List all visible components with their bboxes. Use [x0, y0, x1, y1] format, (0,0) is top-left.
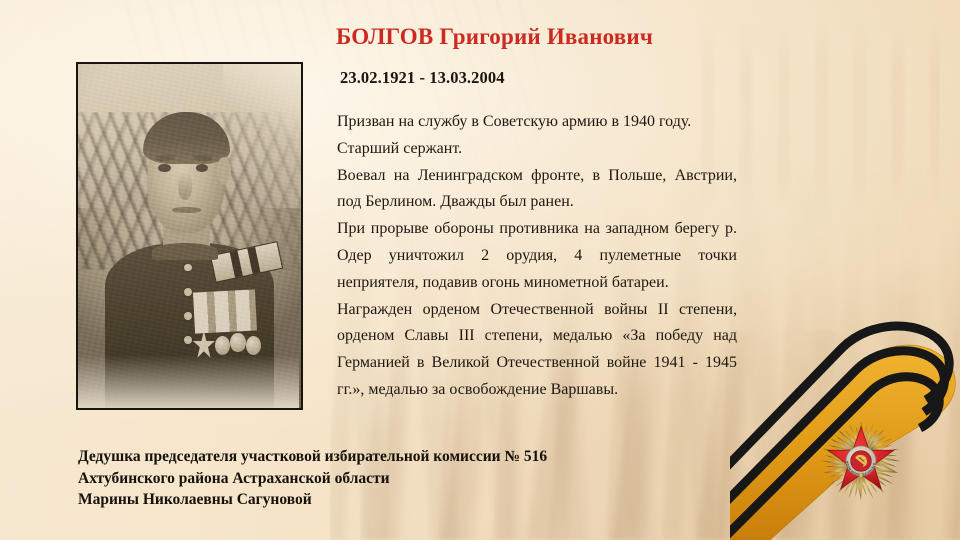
- veteran-name: БОЛГОВ Григорий Иванович: [336, 24, 936, 50]
- memorial-poster: БОЛГОВ Григорий Иванович 23.02.1921 - 13…: [0, 0, 960, 540]
- caption-line-3: Марины Николаевны Сагуновой: [78, 489, 718, 511]
- veteran-photo: [76, 62, 303, 410]
- biography-paragraph: Воевал на Ленинградском фронте, в Польше…: [337, 163, 737, 217]
- biography-paragraph: Призван на службу в Советскую армию в 19…: [337, 109, 737, 136]
- photo-bottom-fade: [76, 355, 299, 410]
- caption-line-1: Дедушка председателя участковой избирате…: [78, 446, 718, 468]
- order-of-patriotic-war-icon: ОТЕЧЕСТВЕННАЯ ВОЙНА: [818, 418, 904, 504]
- photo-canvas: [78, 64, 301, 408]
- biography-paragraph: Старший сержант.: [337, 136, 737, 163]
- biography-paragraph: При прорыве обороны противника на западн…: [337, 216, 737, 296]
- caption-line-2: Ахтубинского района Астраханской области: [78, 468, 718, 490]
- relation-caption: Дедушка председателя участковой избирате…: [78, 446, 718, 511]
- veteran-dates: 23.02.1921 - 13.03.2004: [340, 68, 505, 88]
- veteran-biography: Призван на службу в Советскую армию в 19…: [337, 109, 737, 404]
- biography-paragraph: Награжден орденом Отечественной войны II…: [337, 297, 737, 404]
- photo-corner-fade: [223, 62, 303, 138]
